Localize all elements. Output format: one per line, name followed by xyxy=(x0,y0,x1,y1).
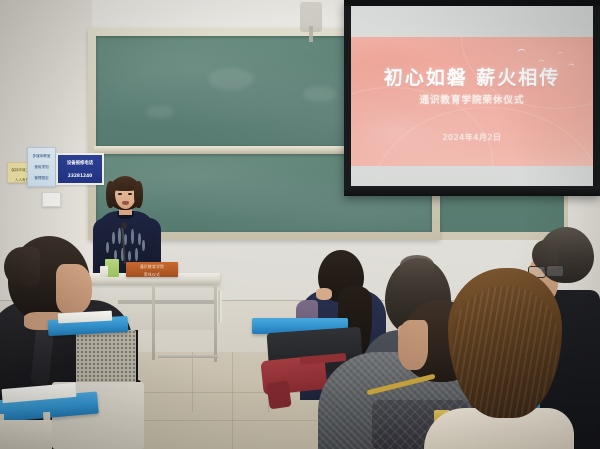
speaker-mouth xyxy=(122,201,129,205)
sign-line-3: 管理规定 xyxy=(28,175,55,181)
projector-screen-surface: 初心如磐 薪火相传 通识教育学院荣休仪式 2024年4月2日 xyxy=(351,4,593,190)
attendee-face-profile xyxy=(56,264,92,314)
wall-sign-lightblue: 多媒体教室 使用须知 管理规定 xyxy=(27,147,56,187)
sweater-pattern xyxy=(135,248,138,261)
chalk-dust xyxy=(208,68,254,90)
nameplate-line-2: 荣休仪式 xyxy=(126,272,178,277)
sweater-pattern xyxy=(118,228,121,244)
microphone-head xyxy=(121,222,127,229)
student-chair-seat xyxy=(0,420,52,449)
sign-line-2: 23281240 xyxy=(58,173,102,181)
floor-tile-line xyxy=(192,352,193,412)
chalk-dust xyxy=(146,106,174,118)
floor-tile-line xyxy=(232,352,233,449)
sweater-pattern xyxy=(124,234,127,245)
attendee-hair-crown xyxy=(400,255,434,275)
sweater-pattern xyxy=(106,242,109,253)
podium-nameplate: 通识教育学院 荣休仪式 xyxy=(126,262,178,277)
podium-shelf xyxy=(118,300,214,304)
sign-line-2: 使用须知 xyxy=(28,164,55,170)
classroom-photo: 初心如磐 薪火相传 通识教育学院荣休仪式 2024年4月2日 保持环境卫生 人人… xyxy=(0,0,600,449)
wall-device-stem xyxy=(309,26,313,42)
screen-top-bar xyxy=(344,0,600,6)
speaker-eye-right xyxy=(128,193,132,195)
speaker-eye-left xyxy=(118,193,122,195)
sign-line-1: 设备报修电话 xyxy=(58,160,102,168)
slide-subtitle: 通识教育学院荣休仪式 xyxy=(351,92,593,106)
hair-waves xyxy=(452,286,558,418)
slide-title: 初心如磐 薪火相传 xyxy=(351,63,593,90)
sweater-pattern xyxy=(142,240,145,251)
paper-cup xyxy=(100,266,108,277)
attendee-hair-back xyxy=(4,247,40,287)
sweater-pattern xyxy=(131,229,134,244)
glasses-lens-right xyxy=(546,265,564,277)
podium-leg-right xyxy=(214,284,217,362)
podium-leg-left xyxy=(152,284,155,360)
sweater-pattern xyxy=(138,233,141,245)
attendee-face-profile xyxy=(398,320,428,370)
red-backpack-strap xyxy=(266,381,291,410)
speaker-hair-side-left xyxy=(106,181,115,208)
speaker-hair-side-right xyxy=(134,181,143,208)
chalk-dust xyxy=(303,86,337,102)
sweater-pattern xyxy=(128,251,131,261)
nameplate-line-1: 通识教育学院 xyxy=(126,264,178,270)
podium-foot-rail xyxy=(158,355,218,358)
glasses-bridge xyxy=(544,269,547,270)
wall-sign-small-white xyxy=(42,192,61,207)
sign-line-1: 多媒体教室 xyxy=(28,153,55,159)
screen-bottom-bar xyxy=(344,186,600,196)
attendee-neck xyxy=(316,288,332,300)
projected-slide: 初心如磐 薪火相传 通识教育学院荣休仪式 2024年4月2日 xyxy=(351,37,593,166)
sweater-pattern xyxy=(112,232,115,244)
wall-sign-repair-phone: 设备报修电话 23281240 xyxy=(56,153,104,185)
slide-date: 2024年4月2日 xyxy=(351,132,593,143)
